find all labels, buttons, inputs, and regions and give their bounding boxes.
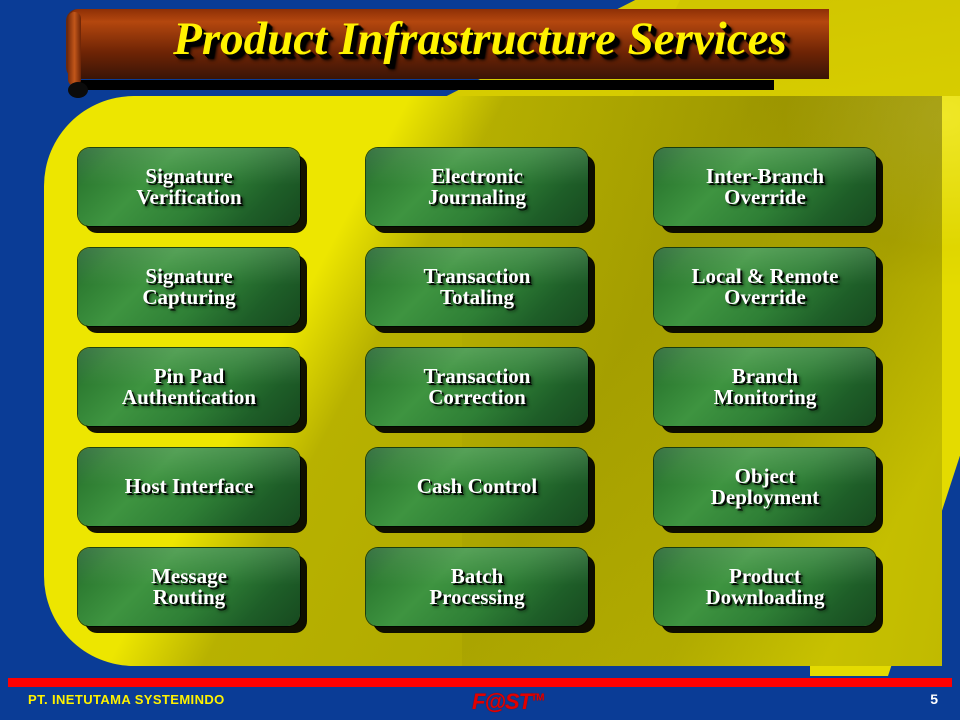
page-title: Product Infrastructure Services <box>0 12 960 66</box>
fast-logo-text: F@ST <box>472 689 531 714</box>
service-button-message-routing[interactable]: Message Routing <box>78 548 300 626</box>
fast-logo: F@STTM <box>472 689 543 715</box>
service-button-label: Signature Verification <box>130 166 247 209</box>
service-button-electronic-journaling[interactable]: Electronic Journaling <box>366 148 588 226</box>
service-button-label: Transaction Correction <box>418 366 537 409</box>
service-button-object-deployment[interactable]: Object Deployment <box>654 448 876 526</box>
service-button-label: Signature Capturing <box>136 266 241 309</box>
service-button-product-downloading[interactable]: Product Downloading <box>654 548 876 626</box>
service-button-label: Cash Control <box>411 476 543 497</box>
services-button-grid: Signature Verification Electronic Journa… <box>78 148 888 638</box>
service-button-label: Batch Processing <box>423 566 530 609</box>
banner-drop-shadow <box>74 80 774 90</box>
service-button-label: Pin Pad Authentication <box>116 366 262 409</box>
service-button-label: Message Routing <box>145 566 233 609</box>
service-button-cash-control[interactable]: Cash Control <box>366 448 588 526</box>
service-button-branch-monitoring[interactable]: Branch Monitoring <box>654 348 876 426</box>
service-button-label: Inter-Branch Override <box>700 166 830 209</box>
service-button-signature-verification[interactable]: Signature Verification <box>78 148 300 226</box>
page-number: 5 <box>930 691 938 707</box>
service-button-pin-pad-authentication[interactable]: Pin Pad Authentication <box>78 348 300 426</box>
service-button-inter-branch-override[interactable]: Inter-Branch Override <box>654 148 876 226</box>
slide-canvas: Product Infrastructure Services Signatur… <box>0 0 960 720</box>
service-button-label: Transaction Totaling <box>418 266 537 309</box>
service-button-local-remote-override[interactable]: Local & Remote Override <box>654 248 876 326</box>
service-button-label: Local & Remote Override <box>686 266 845 309</box>
trademark-icon: TM <box>531 693 543 704</box>
service-button-signature-capturing[interactable]: Signature Capturing <box>78 248 300 326</box>
service-button-transaction-totaling[interactable]: Transaction Totaling <box>366 248 588 326</box>
service-button-label: Electronic Journaling <box>422 166 532 209</box>
footer-red-rule <box>8 678 952 687</box>
footer-company-name: PT. INETUTAMA SYSTEMINDO <box>28 692 225 707</box>
service-button-host-interface[interactable]: Host Interface <box>78 448 300 526</box>
service-button-transaction-correction[interactable]: Transaction Correction <box>366 348 588 426</box>
slide-footer: PT. INETUTAMA SYSTEMINDO F@STTM 5 <box>0 678 960 720</box>
service-button-label: Host Interface <box>119 476 260 497</box>
service-button-label: Object Deployment <box>705 466 826 509</box>
service-button-label: Product Downloading <box>699 566 830 609</box>
service-button-label: Branch Monitoring <box>708 366 823 409</box>
banner-pin-dot <box>68 82 88 98</box>
service-button-batch-processing[interactable]: Batch Processing <box>366 548 588 626</box>
